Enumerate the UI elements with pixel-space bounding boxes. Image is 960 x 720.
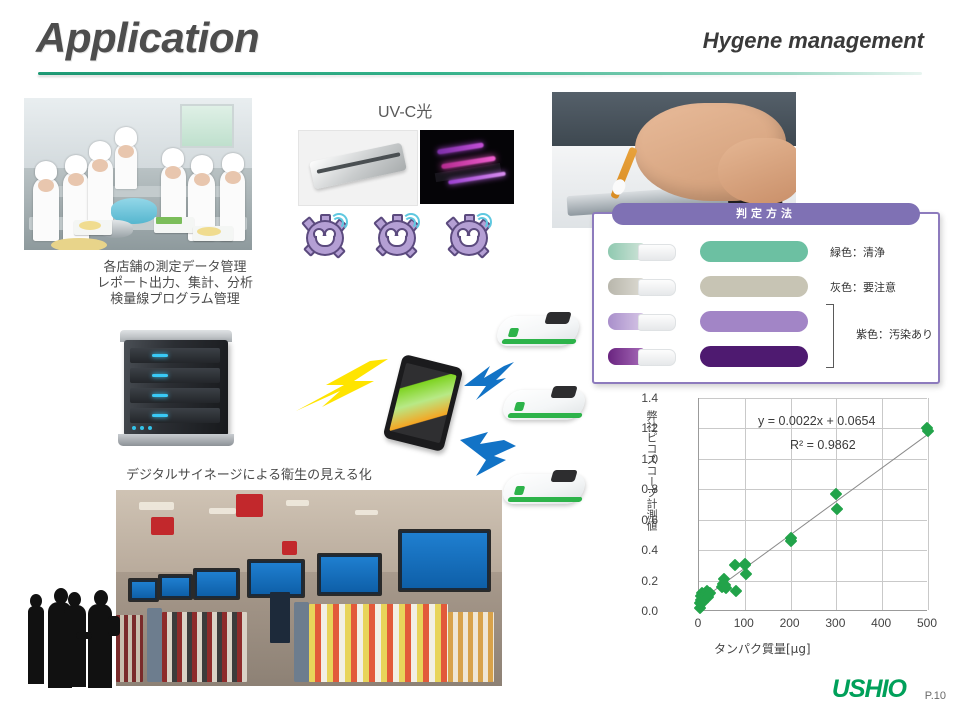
chart-x-tick-label: 100 bbox=[727, 616, 761, 630]
chart-gridline-horizontal bbox=[699, 398, 927, 399]
germ-icon bbox=[302, 214, 346, 256]
signage-screen bbox=[193, 568, 239, 599]
silhouette-arm bbox=[76, 632, 92, 639]
shelf-products bbox=[162, 612, 247, 683]
sample-tube-icon bbox=[608, 313, 676, 330]
judgement-rows: 緑色：清浄 灰色：要注意 bbox=[594, 234, 938, 374]
handheld-device bbox=[504, 470, 584, 510]
chart-x-tick-label: 0 bbox=[681, 616, 715, 630]
tube-body bbox=[638, 279, 676, 296]
tube-body bbox=[638, 314, 676, 331]
chart-y-tick-label: 1.0 bbox=[624, 452, 658, 466]
chart-y-tick-label: 0.8 bbox=[624, 482, 658, 496]
header-divider-shadow bbox=[38, 75, 922, 77]
kitchen-food-tray bbox=[51, 238, 107, 250]
chart-plot-area bbox=[698, 398, 927, 611]
device-black-pad bbox=[550, 386, 577, 398]
chart-gridline-horizontal bbox=[699, 520, 927, 521]
kitchen-worker bbox=[88, 157, 113, 223]
hand-second bbox=[718, 138, 796, 203]
store-staff bbox=[270, 592, 289, 643]
germ-icon bbox=[446, 214, 490, 256]
kitchen-greens bbox=[156, 217, 182, 224]
chart-y-tick-label: 1.2 bbox=[624, 421, 658, 435]
store-signage-photo bbox=[116, 490, 502, 686]
server-caption: 各店舗の測定データ管理 レポート出力、集計、分析 検量線プログラム管理 bbox=[60, 260, 290, 308]
server-caption-line-2: レポート出力、集計、分析 bbox=[60, 276, 290, 292]
chart-y-tick-label: 0.2 bbox=[624, 574, 658, 588]
judgement-label: 灰色：要注意 bbox=[830, 279, 896, 295]
kitchen-worker bbox=[33, 177, 59, 241]
color-swatch bbox=[700, 346, 808, 367]
silhouette-body bbox=[64, 605, 86, 687]
server-led bbox=[152, 414, 168, 417]
slide-header: Application Hygene management bbox=[0, 0, 960, 78]
chart-r2-annotation: R² = 0.9862 bbox=[790, 438, 856, 452]
uv-lamp-lit-photo bbox=[420, 130, 514, 204]
uv-lamp-photo bbox=[298, 130, 418, 206]
uv-lamp-body bbox=[309, 142, 407, 189]
server-caption-line-3: 検量線プログラム管理 bbox=[60, 292, 290, 308]
chart-x-tick-label: 200 bbox=[773, 616, 807, 630]
ushio-logo: USHIO bbox=[832, 675, 906, 704]
page-subtitle: Hygene management bbox=[703, 28, 924, 54]
silhouette-arm bbox=[108, 616, 120, 636]
judgement-row: 灰色：要注意 bbox=[594, 269, 938, 304]
germ-signal-icon bbox=[476, 217, 488, 229]
server-bay bbox=[130, 368, 220, 383]
device-green-stripe bbox=[501, 339, 576, 344]
hanging-sign bbox=[236, 494, 263, 518]
server-status-lights bbox=[132, 426, 152, 430]
handheld-device bbox=[504, 386, 584, 426]
chart-gridline-vertical bbox=[882, 398, 883, 610]
kitchen-photo bbox=[24, 98, 252, 250]
germ-icon bbox=[374, 214, 418, 256]
silhouette-body bbox=[28, 606, 44, 684]
brace-bracket bbox=[826, 304, 834, 368]
people-silhouettes bbox=[14, 572, 126, 690]
ceiling-light bbox=[286, 500, 309, 506]
page-number: P.10 bbox=[925, 690, 946, 702]
server-body bbox=[124, 340, 228, 436]
server-caption-line-1: 各店舗の測定データ管理 bbox=[60, 260, 290, 276]
color-swatch bbox=[700, 241, 808, 262]
judgement-row: 緑色：清浄 bbox=[594, 234, 938, 269]
uvc-label: UV-C光 bbox=[378, 98, 432, 122]
germ-signal-icon bbox=[332, 217, 344, 229]
server-base bbox=[118, 434, 234, 446]
shelf-products bbox=[448, 612, 494, 683]
judgement-label-contaminated: 紫色：汚染あり bbox=[856, 326, 933, 342]
tube-body bbox=[638, 244, 676, 261]
chart-gridline-horizontal bbox=[699, 550, 927, 551]
sample-tube-icon bbox=[608, 348, 676, 365]
chart-x-tick-label: 300 bbox=[818, 616, 852, 630]
yellow-lightning-bolt-icon bbox=[292, 355, 402, 415]
calibration-chart: 弊社ピコスコープ計測値 タンパク質量[μg] 0.00.20.40.60.81.… bbox=[640, 388, 950, 668]
chart-y-tick-label: 0.0 bbox=[624, 604, 658, 618]
chart-y-tick-label: 0.4 bbox=[624, 543, 658, 557]
color-swatch bbox=[700, 276, 808, 297]
tube-body bbox=[638, 349, 676, 366]
device-black-pad bbox=[544, 312, 571, 324]
signage-screen bbox=[158, 574, 193, 600]
signage-screen bbox=[317, 553, 383, 596]
shelf-products bbox=[309, 604, 448, 682]
server-bay bbox=[130, 408, 220, 423]
server-tower bbox=[118, 330, 234, 452]
server-led bbox=[152, 394, 168, 397]
handheld-device bbox=[498, 312, 578, 352]
sample-tube-icon bbox=[608, 278, 676, 295]
chart-equation-annotation: y = 0.0022x + 0.0654 bbox=[758, 414, 875, 428]
signage-caption: デジタルサイネージによる衛生の見える化 bbox=[126, 464, 372, 483]
judgement-row bbox=[594, 339, 938, 374]
device-green-stripe bbox=[507, 497, 582, 502]
judgement-panel-title: 判定方法 bbox=[612, 203, 920, 225]
hanging-sign bbox=[151, 517, 174, 535]
germ-signal-icon bbox=[404, 217, 416, 229]
uv-tube bbox=[437, 143, 484, 155]
ceiling-light bbox=[209, 508, 236, 514]
server-led bbox=[152, 374, 168, 377]
sample-tube-icon bbox=[608, 243, 676, 260]
chart-gridline-horizontal bbox=[699, 489, 927, 490]
chart-gridline-horizontal bbox=[699, 428, 927, 429]
server-led bbox=[152, 354, 168, 357]
chart-x-axis-label: タンパク質量[μg] bbox=[714, 640, 811, 657]
signage-screen bbox=[128, 578, 159, 602]
chart-y-tick-label: 1.4 bbox=[624, 391, 658, 405]
slide: Application Hygene management 各店舗の測定データ管… bbox=[0, 0, 960, 720]
signage-screen bbox=[398, 529, 491, 592]
color-swatch bbox=[700, 311, 808, 332]
shelf-frame bbox=[147, 608, 162, 682]
shelf-frame bbox=[294, 602, 309, 682]
chart-x-tick-label: 500 bbox=[910, 616, 944, 630]
chart-gridline-vertical bbox=[791, 398, 792, 610]
judgement-panel: 判定方法 緑色：清浄 灰色：要注意 bbox=[592, 212, 940, 384]
server-bay bbox=[130, 388, 220, 403]
chart-x-tick-label: 400 bbox=[864, 616, 898, 630]
ceiling-light bbox=[139, 502, 174, 510]
kitchen-food bbox=[79, 221, 101, 230]
chart-y-tick-label: 0.6 bbox=[624, 513, 658, 527]
kitchen-worker bbox=[115, 143, 137, 189]
ceiling-light bbox=[355, 510, 378, 516]
judgement-label: 緑色：清浄 bbox=[830, 244, 885, 260]
device-green-stripe bbox=[507, 413, 582, 418]
chart-gridline-horizontal bbox=[699, 581, 927, 582]
server-bay bbox=[130, 348, 220, 363]
hanging-sign bbox=[282, 541, 297, 555]
page-title: Application bbox=[36, 14, 259, 62]
device-black-pad bbox=[550, 470, 577, 482]
kitchen-window bbox=[180, 104, 234, 148]
